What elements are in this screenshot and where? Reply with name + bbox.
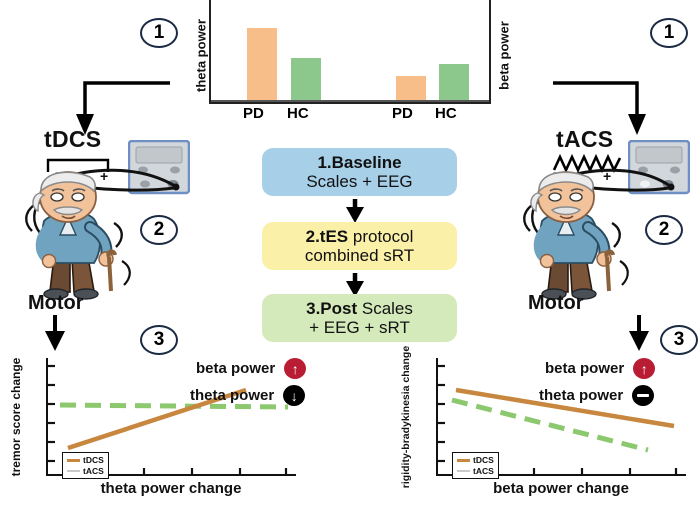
legend-swatch-tdcs bbox=[457, 459, 470, 462]
bar-label-beta-pd: PD bbox=[392, 105, 413, 122]
beta-up-arrow-badge-left: ↑ bbox=[284, 358, 306, 379]
up-arrow-icon: ↑ bbox=[641, 362, 648, 376]
left-annotation-beta-label: beta power bbox=[196, 360, 275, 377]
bar-label-theta-pd: PD bbox=[243, 105, 264, 122]
barchart-plot-area bbox=[211, 0, 489, 102]
flow-box-baseline-detail: Scales + EEG bbox=[306, 172, 412, 191]
right-chart-ylabel: rigidity-bradykinesia change bbox=[396, 356, 416, 478]
flow-box-baseline-title: 1.Baseline bbox=[317, 153, 401, 172]
right-chart-xlabel: beta power change bbox=[436, 480, 686, 497]
right-annotation-theta-label: theta power bbox=[539, 387, 623, 404]
up-arrow-icon: ↑ bbox=[292, 362, 299, 376]
step-marker-3-left: 3 bbox=[140, 325, 178, 355]
barchart-ylabel-beta: beta power bbox=[494, 8, 512, 103]
theta-nochange-badge-right bbox=[632, 385, 654, 406]
flow-box-tes-protocol: 2.tES protocol combined sRT bbox=[262, 222, 457, 270]
motor-label-left: Motor bbox=[28, 292, 84, 315]
flow-box-post-detail: + EEG + sRT bbox=[309, 318, 410, 337]
barchart-ylabel-theta: theta power bbox=[191, 8, 209, 103]
elderly-patient-right-illustration bbox=[508, 165, 648, 300]
elbow-arrow-to-tacs bbox=[545, 40, 695, 140]
legend-entry-tacs: tACS bbox=[67, 466, 104, 477]
legend-entry-tacs: tACS bbox=[457, 466, 494, 477]
beta-up-arrow-badge-right: ↑ bbox=[633, 358, 655, 379]
left-annotation-beta: beta power ↑ bbox=[196, 358, 306, 379]
right-annotation-theta: theta power bbox=[539, 385, 654, 406]
motor-label-right: Motor bbox=[528, 292, 584, 315]
step-marker-2-right: 2 bbox=[645, 215, 683, 245]
down-arrow-left-to-chart bbox=[38, 313, 72, 353]
right-chart-legend: tDCS tACS bbox=[452, 452, 499, 479]
barchart-category-labels: PD HC PD HC bbox=[209, 105, 491, 127]
bar-theta-pd bbox=[247, 28, 277, 102]
flow-box-post: 3.Post Scales + EEG + sRT bbox=[262, 294, 457, 342]
down-arrow-icon: ↓ bbox=[291, 389, 298, 403]
legend-swatch-tacs bbox=[67, 470, 80, 473]
legend-entry-tdcs: tDCS bbox=[67, 455, 104, 466]
elderly-patient-left-illustration bbox=[10, 165, 150, 300]
barchart-x-axis bbox=[211, 100, 489, 102]
theta-down-arrow-badge-left: ↓ bbox=[283, 385, 305, 406]
legend-swatch-tacs bbox=[457, 470, 470, 473]
bar-label-theta-hc: HC bbox=[287, 105, 309, 122]
left-annotation-theta: theta power ↓ bbox=[190, 385, 305, 406]
left-chart-xlabel: theta power change bbox=[46, 480, 296, 497]
legend-entry-tdcs: tDCS bbox=[457, 455, 494, 466]
elbow-arrow-to-tdcs bbox=[20, 40, 170, 140]
theta-beta-power-barchart bbox=[209, 0, 491, 104]
bar-beta-hc bbox=[439, 64, 469, 102]
flow-arrow-1 bbox=[343, 198, 367, 224]
left-chart-ylabel: tremor score change bbox=[6, 356, 26, 478]
left-annotation-theta-label: theta power bbox=[190, 387, 274, 404]
legend-label-tacs: tACS bbox=[83, 466, 104, 477]
left-chart-legend: tDCS tACS bbox=[62, 452, 109, 479]
legend-label-tdcs: tDCS bbox=[83, 455, 104, 466]
bar-theta-hc bbox=[291, 58, 321, 102]
step-marker-3-right: 3 bbox=[660, 325, 698, 355]
right-annotation-beta-label: beta power bbox=[545, 360, 624, 377]
down-arrow-right-to-chart bbox=[622, 313, 656, 353]
legend-swatch-tdcs bbox=[67, 459, 80, 462]
flow-box-post-title: 3.Post Scales bbox=[306, 299, 413, 318]
horizontal-dash-icon bbox=[637, 394, 649, 398]
flow-box-tes-detail: combined sRT bbox=[305, 246, 414, 265]
bar-beta-pd bbox=[396, 76, 426, 102]
legend-label-tdcs: tDCS bbox=[473, 455, 494, 466]
step-marker-2-left: 2 bbox=[140, 215, 178, 245]
flow-box-tes-title: 2.tES protocol bbox=[306, 227, 414, 246]
bar-label-beta-hc: HC bbox=[435, 105, 457, 122]
legend-label-tacs: tACS bbox=[473, 466, 494, 477]
tacs-label: tACS bbox=[556, 126, 613, 153]
flow-box-baseline: 1.Baseline Scales + EEG bbox=[262, 148, 457, 196]
tdcs-label: tDCS bbox=[44, 126, 101, 153]
right-annotation-beta: beta power ↑ bbox=[545, 358, 655, 379]
